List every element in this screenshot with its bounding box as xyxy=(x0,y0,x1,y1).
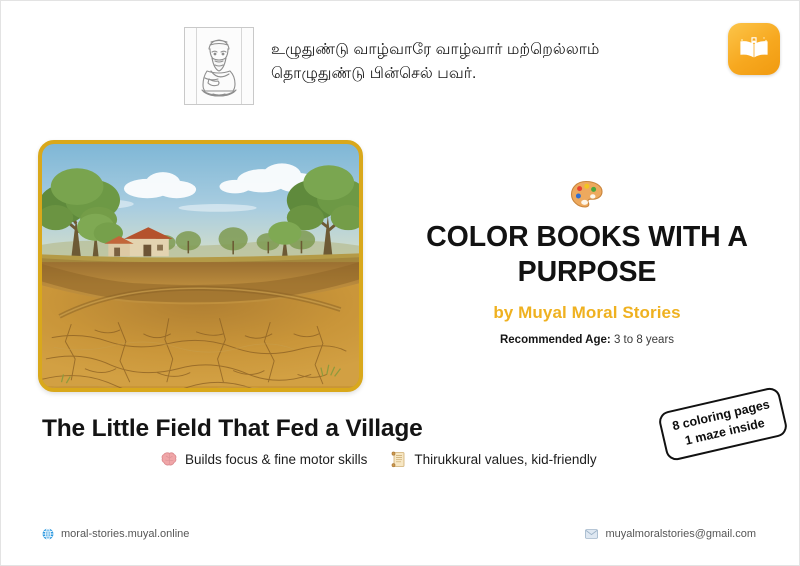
page-title: COLOR BOOKS WITH A PURPOSE xyxy=(393,220,781,290)
kural-line-1: உழுதுண்டு வாழ்வாரே வாழ்வார் மற்றெல்லாம் xyxy=(271,38,599,62)
website-url: moral-stories.muyal.online xyxy=(61,528,189,540)
artist-palette-icon xyxy=(570,180,604,210)
email-footer[interactable]: muyalmoralstories@gmail.com xyxy=(585,528,756,540)
envelope-icon xyxy=(585,529,598,539)
email-address: muyalmoralstories@gmail.com xyxy=(605,528,756,540)
contents-badge: 8 coloring pages 1 maze inside xyxy=(657,386,789,463)
kural-line-2: தொழுதுண்டு பின்செல் பவர். xyxy=(271,62,599,86)
website-footer[interactable]: moral-stories.muyal.online xyxy=(42,528,189,540)
open-book-app-icon[interactable] xyxy=(728,23,780,75)
palette-emoji xyxy=(393,177,781,211)
thirukkural-header: உழுதுண்டு வாழ்வாரே வாழ்வார் மற்றெல்லாம் … xyxy=(184,27,599,105)
thiruvalluvar-line-drawing xyxy=(191,33,247,99)
scroll-glyph xyxy=(391,451,407,468)
feature-item: Builds focus & fine motor skills xyxy=(161,452,367,467)
feature-item: Thirukkural values, kid-friendly xyxy=(391,451,596,468)
feature-list: Builds focus & fine motor skills Thirukk… xyxy=(161,451,597,468)
recommended-age-label: Recommended Age: xyxy=(500,334,611,346)
book-promo-poster: உழுதுண்டு வாழ்வாரே வாழ்வார் மற்றெல்லாம் … xyxy=(0,0,800,566)
hero-block: COLOR BOOKS WITH A PURPOSE by Muyal Mora… xyxy=(393,177,781,346)
cover-illustration xyxy=(38,140,363,392)
publisher-byline: by Muyal Moral Stories xyxy=(393,303,781,323)
open-book-icon xyxy=(737,34,771,64)
globe-icon xyxy=(42,528,54,540)
scroll-icon xyxy=(391,451,407,468)
brain-glyph xyxy=(161,452,178,467)
globe-glyph xyxy=(42,528,54,540)
dry-cracked-field-art xyxy=(42,144,359,388)
feature-label: Thirukkural values, kid-friendly xyxy=(414,452,596,467)
thiruvalluvar-portrait xyxy=(184,27,254,105)
brain-icon xyxy=(161,452,178,467)
book-title: The Little Field That Fed a Village xyxy=(42,415,423,443)
recommended-age: Recommended Age: 3 to 8 years xyxy=(393,334,781,346)
envelope-glyph xyxy=(585,529,598,539)
recommended-age-value: 3 to 8 years xyxy=(614,334,674,346)
thirukkural-couplet: உழுதுண்டு வாழ்வாரே வாழ்வார் மற்றெல்லாம் … xyxy=(271,27,599,85)
feature-label: Builds focus & fine motor skills xyxy=(185,452,367,467)
